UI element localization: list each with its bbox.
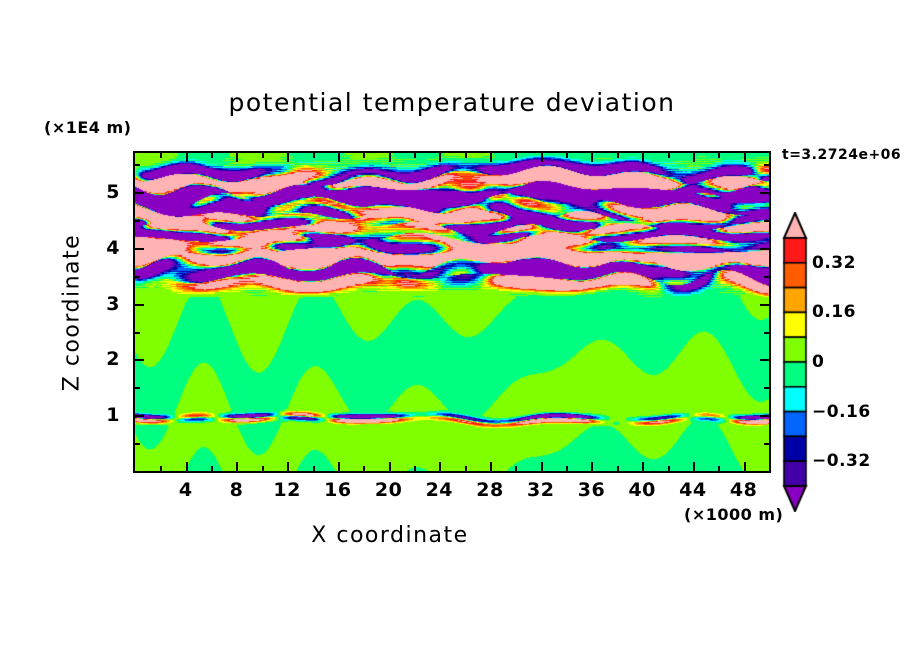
y-tick-label: 5 [96, 181, 120, 203]
tick-mark [591, 462, 593, 471]
tick-mark [760, 192, 769, 194]
tick-mark [465, 153, 467, 158]
colorbar [782, 212, 808, 512]
tick-mark [363, 153, 365, 158]
tick-mark [262, 466, 264, 471]
tick-mark [764, 387, 769, 389]
timestamp-annotation: t=3.2724e+06 [782, 147, 901, 163]
tick-mark [186, 462, 188, 471]
tick-mark [135, 443, 140, 445]
tick-mark [744, 153, 746, 162]
y-tick-label: 4 [96, 237, 120, 259]
tick-mark [160, 153, 162, 158]
tick-mark [135, 359, 144, 361]
tick-mark [465, 466, 467, 471]
tick-mark [591, 153, 593, 162]
tick-mark [642, 153, 644, 162]
tick-mark [566, 466, 568, 471]
tick-mark [764, 332, 769, 334]
tick-mark [389, 153, 391, 162]
tick-mark [718, 153, 720, 158]
tick-mark [313, 153, 315, 158]
x-tick-label: 16 [324, 479, 351, 501]
tick-mark [490, 462, 492, 471]
tick-mark [135, 164, 140, 166]
tick-mark [541, 153, 543, 162]
tick-mark [764, 276, 769, 278]
colorbar-tick-label: −0.16 [812, 402, 871, 422]
tick-mark [693, 153, 695, 162]
tick-mark [566, 153, 568, 158]
tick-mark [693, 462, 695, 471]
tick-mark [617, 153, 619, 158]
tick-mark [541, 462, 543, 471]
contour-field [135, 153, 769, 471]
tick-mark [414, 466, 416, 471]
tick-mark [338, 462, 340, 471]
y-tick-label: 3 [96, 293, 120, 315]
tick-mark [760, 304, 769, 306]
tick-mark [186, 153, 188, 162]
x-tick-label: 32 [527, 479, 554, 501]
tick-mark [439, 462, 441, 471]
colorbar-tick-label: −0.32 [812, 451, 871, 471]
tick-mark [363, 466, 365, 471]
tick-mark [490, 153, 492, 162]
x-axis-title: X coordinate [0, 523, 780, 548]
x-tick-label: 12 [273, 479, 300, 501]
x-tick-label: 28 [476, 479, 503, 501]
tick-mark [764, 443, 769, 445]
y-tick-label: 1 [96, 404, 120, 426]
tick-mark [515, 153, 517, 158]
chart-title: potential temperature deviation [0, 88, 904, 117]
y-axis-title: Z coordinate [60, 223, 85, 403]
tick-mark [338, 153, 340, 162]
tick-mark [135, 220, 140, 222]
tick-mark [764, 220, 769, 222]
tick-mark [439, 153, 441, 162]
tick-mark [135, 192, 144, 194]
tick-mark [160, 466, 162, 471]
tick-mark [617, 466, 619, 471]
x-tick-label: 40 [628, 479, 655, 501]
tick-mark [744, 462, 746, 471]
tick-mark [760, 415, 769, 417]
tick-mark [760, 359, 769, 361]
tick-mark [135, 415, 144, 417]
figure-canvas: potential temperature deviation (×1E4 m)… [0, 0, 904, 654]
tick-mark [211, 153, 213, 158]
tick-mark [313, 466, 315, 471]
colorbar-tick-label: 0.16 [812, 302, 856, 322]
tick-mark [515, 466, 517, 471]
colorbar-gradient [782, 212, 808, 512]
tick-mark [236, 462, 238, 471]
x-tick-label: 8 [230, 479, 244, 501]
x-tick-label: 44 [679, 479, 706, 501]
x-tick-label: 48 [730, 479, 757, 501]
tick-mark [718, 466, 720, 471]
y-axis-unit-label: (×1E4 m) [44, 118, 131, 137]
tick-mark [760, 248, 769, 250]
x-tick-label: 4 [179, 479, 193, 501]
colorbar-tick-label: 0 [812, 352, 824, 372]
tick-mark [389, 462, 391, 471]
colorbar-tick-label: 0.32 [812, 253, 856, 273]
tick-mark [135, 332, 140, 334]
tick-mark [287, 462, 289, 471]
tick-mark [135, 387, 140, 389]
tick-mark [287, 153, 289, 162]
tick-mark [135, 276, 140, 278]
tick-mark [236, 153, 238, 162]
tick-mark [211, 466, 213, 471]
tick-mark [414, 153, 416, 158]
tick-mark [668, 153, 670, 158]
tick-mark [642, 462, 644, 471]
y-tick-label: 2 [96, 348, 120, 370]
x-tick-label: 36 [578, 479, 605, 501]
tick-mark [262, 153, 264, 158]
x-axis-unit-label: (×1000 m) [684, 505, 783, 524]
plot-area [135, 153, 769, 471]
tick-mark [764, 164, 769, 166]
tick-mark [668, 466, 670, 471]
tick-mark [135, 304, 144, 306]
x-tick-label: 20 [375, 479, 402, 501]
tick-mark [135, 248, 144, 250]
x-tick-label: 24 [426, 479, 453, 501]
